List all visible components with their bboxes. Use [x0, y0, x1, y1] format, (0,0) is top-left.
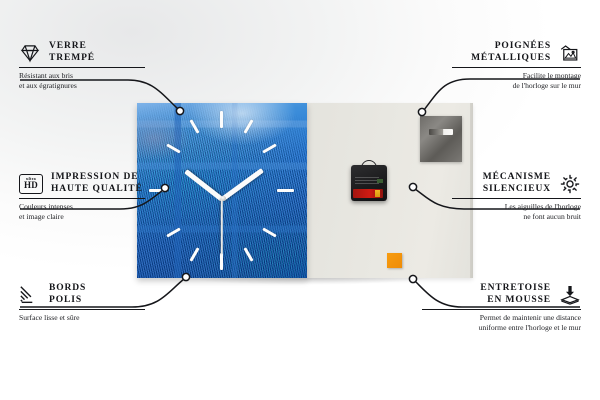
mechanism-hook [361, 160, 377, 168]
callout-title: POIGNÉESMÉTALLIQUES [471, 41, 551, 64]
callout-bords-polis[interactable]: BORDSPOLIS Surface lisse et sûre [19, 283, 145, 323]
callout-subtitle: Résistant aux briset aux égratignures [19, 71, 145, 90]
callout-mecanisme-silencieux[interactable]: MÉCANISMESILENCIEUX Les aiguilles de l'h… [452, 172, 581, 221]
infographic-stage: VERRETREMPÉ Résistant aux briset aux égr… [0, 0, 600, 400]
hour-tick [220, 253, 223, 270]
callout-title: BORDSPOLIS [49, 283, 86, 306]
callout-title: MÉCANISMESILENCIEUX [483, 172, 551, 195]
callout-rule [19, 198, 145, 199]
callout-subtitle: Couleurs intenseset image claire [19, 202, 145, 221]
callout-poignees-metalliques[interactable]: POIGNÉESMÉTALLIQUES Facilite le montaged… [452, 41, 581, 90]
mechanism-switch [377, 179, 383, 183]
callout-impression-haute-qualite[interactable]: ultra HD IMPRESSION DEHAUTE QUALITÉ Coul… [19, 172, 145, 221]
ultra-hd-large-label: HD [24, 181, 38, 190]
second-hand [221, 199, 223, 254]
hour-tick [220, 111, 223, 128]
battery [353, 189, 383, 198]
callout-entretoise-en-mousse[interactable]: ENTRETOISEEN MOUSSE Permet de maintenir … [422, 283, 581, 332]
product-image [137, 103, 473, 278]
metal-hanger-plate [420, 116, 462, 162]
callout-rule [19, 309, 145, 310]
callout-rule [452, 198, 581, 199]
hour-tick [149, 189, 166, 192]
foam-spacer [387, 253, 402, 268]
callout-rule [452, 67, 581, 68]
polished-edge-icon [19, 284, 41, 306]
callout-subtitle: Facilite le montagede l'horloge sur le m… [452, 71, 581, 90]
clock-glass-face [137, 103, 307, 278]
arrow-down-onto-plate-icon [559, 284, 581, 306]
callout-title: IMPRESSION DEHAUTE QUALITÉ [51, 172, 143, 195]
hour-tick [277, 189, 294, 192]
ultra-hd-icon: ultra HD [19, 174, 43, 194]
clock-mechanism [351, 165, 387, 201]
callout-rule [422, 309, 581, 310]
callout-title: VERRETREMPÉ [49, 41, 95, 64]
clock-back-panel [305, 103, 473, 278]
callout-subtitle: Surface lisse et sûre [19, 313, 145, 322]
clock-center-pin [221, 196, 226, 201]
callout-subtitle: Permet de maintenir une distanceuniforme… [422, 313, 581, 332]
callout-rule [19, 67, 145, 68]
callout-verre-trempe[interactable]: VERRETREMPÉ Résistant aux briset aux égr… [19, 41, 145, 90]
callout-subtitle: Les aiguilles de l'horlogene font aucun … [452, 202, 581, 221]
diamond-icon [19, 42, 41, 64]
gear-icon [559, 173, 581, 195]
mechanism-label [355, 176, 379, 184]
callout-title: ENTRETOISEEN MOUSSE [480, 283, 551, 306]
hanging-picture-icon [559, 42, 581, 64]
